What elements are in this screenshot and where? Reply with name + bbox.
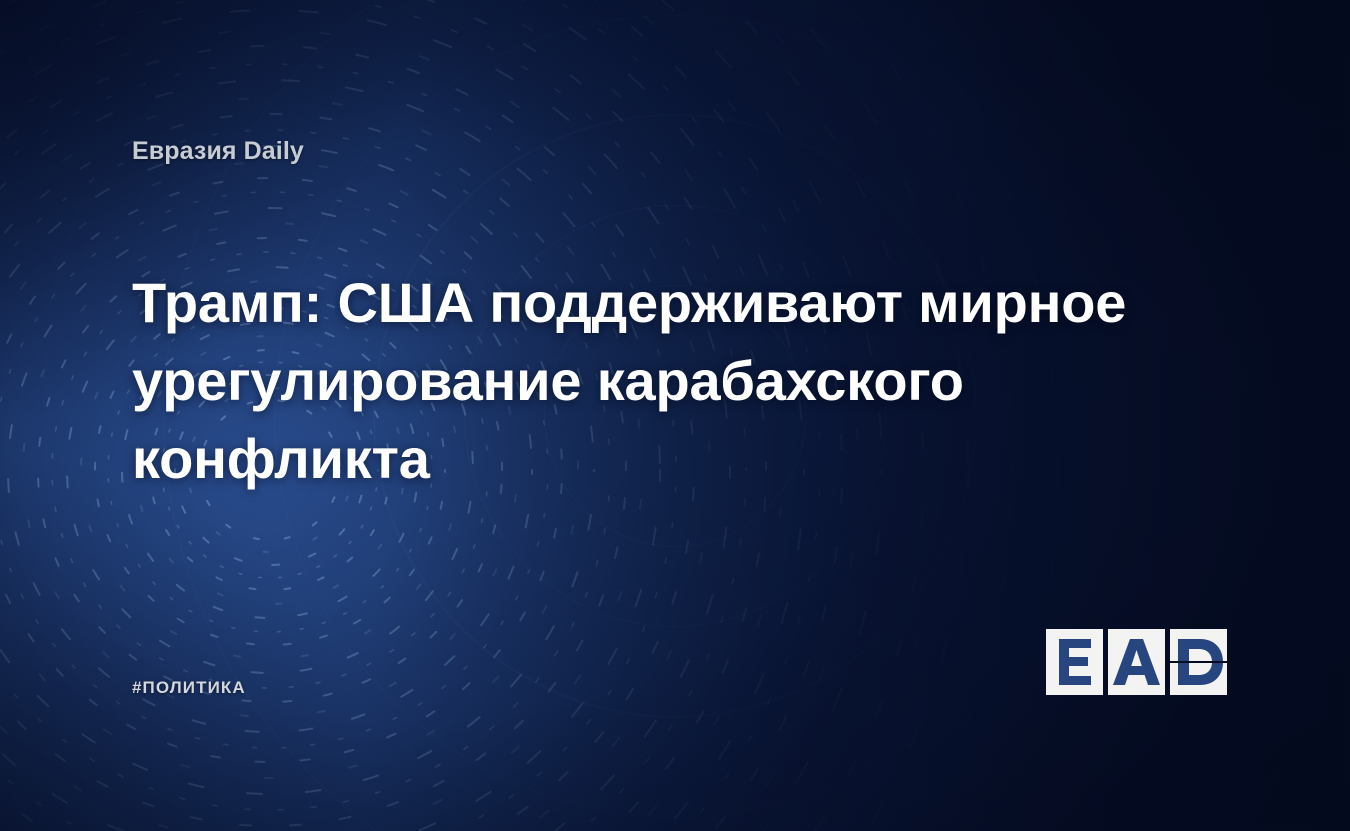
logo-d-upper-half <box>1170 629 1227 661</box>
logo-tile-d <box>1170 629 1227 695</box>
logo-d-lower-half <box>1170 663 1227 695</box>
logo-tile-e <box>1046 629 1103 695</box>
news-share-card: Евразия Daily Трамп: США поддерживают ми… <box>0 0 1350 831</box>
eadaily-logo[interactable] <box>1046 629 1227 695</box>
headline-text: Трамп: США поддерживают мирное урегулиро… <box>132 264 1142 498</box>
card-content: Евразия Daily Трамп: США поддерживают ми… <box>0 0 1350 831</box>
category-tag-politics[interactable]: #ПОЛИТИКА <box>132 678 246 698</box>
brand-watermark: Евразия Daily <box>132 137 304 166</box>
logo-tile-a <box>1108 629 1165 695</box>
